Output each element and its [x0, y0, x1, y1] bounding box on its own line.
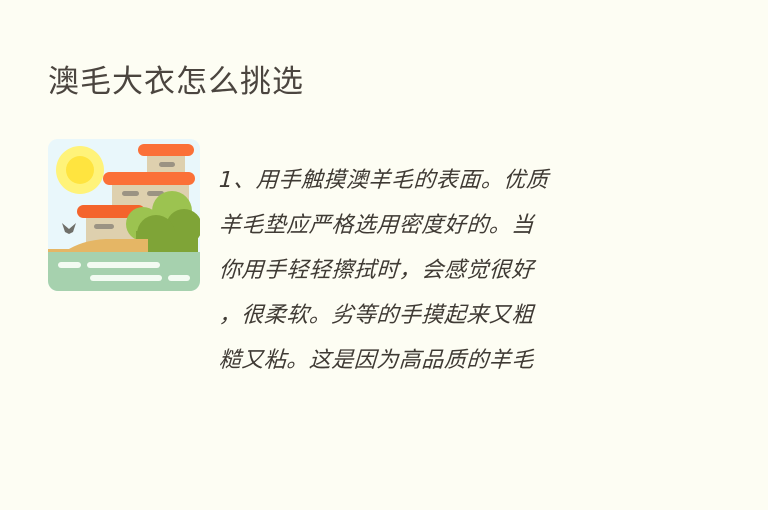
house-upper-window [159, 162, 175, 167]
water-ripple-4 [168, 275, 190, 281]
article-container: 澳毛大衣怎么挑选 [0, 0, 768, 510]
water-ripple-2 [87, 262, 160, 268]
water-ripple-3 [90, 275, 162, 281]
page-title: 澳毛大衣怎么挑选 [48, 60, 304, 104]
body-line: 糙又粘。这是因为高品质的羊毛 [218, 338, 652, 383]
body-line: 1、用手触摸澳羊毛的表面。优质 [218, 158, 652, 203]
sun-icon [66, 156, 94, 184]
house-middle-roof [103, 172, 195, 185]
house-lower-window [94, 224, 114, 229]
body-line: 羊毛垫应严格选用密度好的。当 [218, 203, 652, 248]
house-middle-window-left [122, 191, 139, 196]
water-ripple-1 [58, 262, 81, 268]
water [48, 252, 200, 291]
article-thumbnail [48, 139, 200, 291]
article-body: 1、用手触摸澳羊毛的表面。优质 羊毛垫应严格选用密度好的。当 你用手轻轻擦拭时，… [219, 158, 651, 383]
body-line: 你用手轻轻擦拭时，会感觉很好 [218, 248, 652, 293]
house-upper-roof [138, 144, 194, 156]
body-line: ，很柔软。劣等的手摸起来又粗 [218, 293, 652, 338]
landscape-illustration [48, 139, 200, 291]
